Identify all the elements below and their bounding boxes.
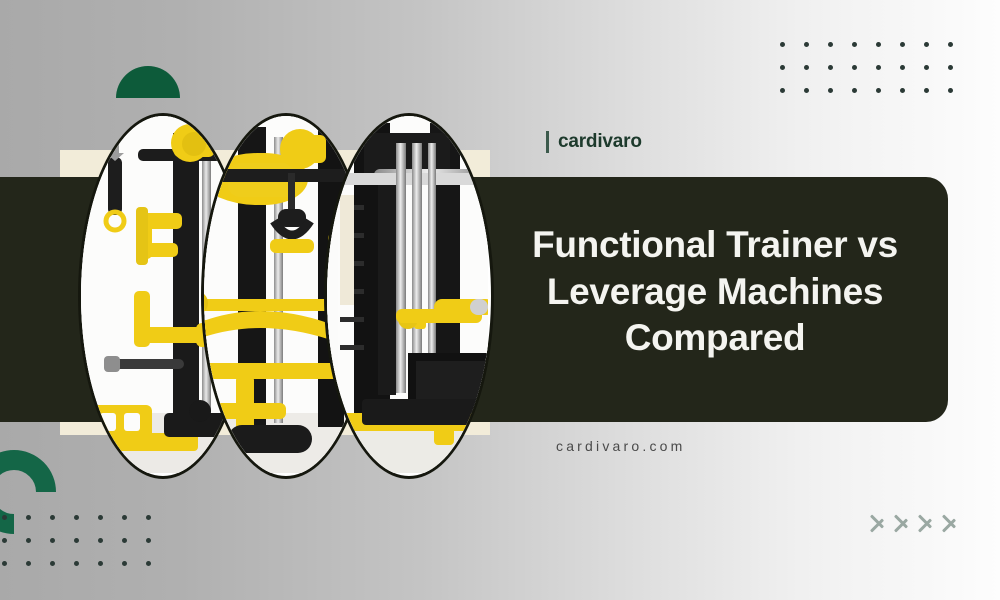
decor-dot: [780, 42, 785, 47]
decor-dot: [852, 42, 857, 47]
decor-dot: [900, 42, 905, 47]
decor-dot: [74, 515, 79, 520]
decor-dot: [924, 65, 929, 70]
decor-dot: [780, 88, 785, 93]
decor-dot: [26, 561, 31, 566]
decor-dot: [948, 65, 953, 70]
chevron-right-icon: [940, 505, 962, 539]
decor-dot: [2, 515, 7, 520]
semicircle-decor-icon: [116, 66, 180, 98]
chevron-right-icon: [892, 505, 914, 539]
decor-dot: [804, 88, 809, 93]
decor-dot: [98, 561, 103, 566]
decor-dot: [146, 515, 151, 520]
decor-dot: [26, 538, 31, 543]
decor-dot: [852, 65, 857, 70]
decor-dot: [876, 88, 881, 93]
decor-dot: [828, 65, 833, 70]
site-url[interactable]: cardivaro.com: [556, 438, 686, 454]
decor-dot: [74, 561, 79, 566]
decor-dot: [146, 561, 151, 566]
decor-dot: [876, 65, 881, 70]
chevron-right-icon: [916, 505, 938, 539]
decor-dot: [26, 515, 31, 520]
decor-dot: [876, 42, 881, 47]
product-photo-group: [78, 113, 488, 473]
decor-dot: [924, 88, 929, 93]
decor-dot: [122, 538, 127, 543]
decor-dot: [2, 561, 7, 566]
decor-dot: [828, 42, 833, 47]
decor-dot: [852, 88, 857, 93]
decor-dot: [804, 42, 809, 47]
photo-oval-3: [324, 113, 494, 479]
decor-dot: [98, 515, 103, 520]
decor-dot: [74, 538, 79, 543]
decor-dot: [50, 561, 55, 566]
chevron-decor-group: [868, 505, 962, 539]
decor-dot: [780, 65, 785, 70]
decor-dot: [122, 515, 127, 520]
poster-canvas: cardivaro Functional Trainer vs Leverage…: [0, 0, 1000, 600]
decor-dot: [50, 515, 55, 520]
dot-grid-bottom-left: [2, 515, 170, 584]
decor-dot: [2, 538, 7, 543]
page-title: Functional Trainer vs Leverage Machines …: [505, 222, 925, 362]
decor-dot: [50, 538, 55, 543]
decor-dot: [804, 65, 809, 70]
decor-dot: [948, 88, 953, 93]
decor-dot: [98, 538, 103, 543]
decor-dot: [122, 561, 127, 566]
decor-dot: [900, 65, 905, 70]
decor-dot: [900, 88, 905, 93]
decor-dot: [924, 42, 929, 47]
dot-grid-top-right: [780, 42, 972, 111]
brand-bar-icon: [546, 131, 549, 153]
brand-logo[interactable]: cardivaro: [546, 131, 642, 153]
gym-machine-photo: [324, 113, 488, 473]
decor-dot: [828, 88, 833, 93]
decor-dot: [948, 42, 953, 47]
brand-name: cardivaro: [558, 131, 642, 153]
chevron-right-icon: [868, 505, 890, 539]
decor-dot: [146, 538, 151, 543]
